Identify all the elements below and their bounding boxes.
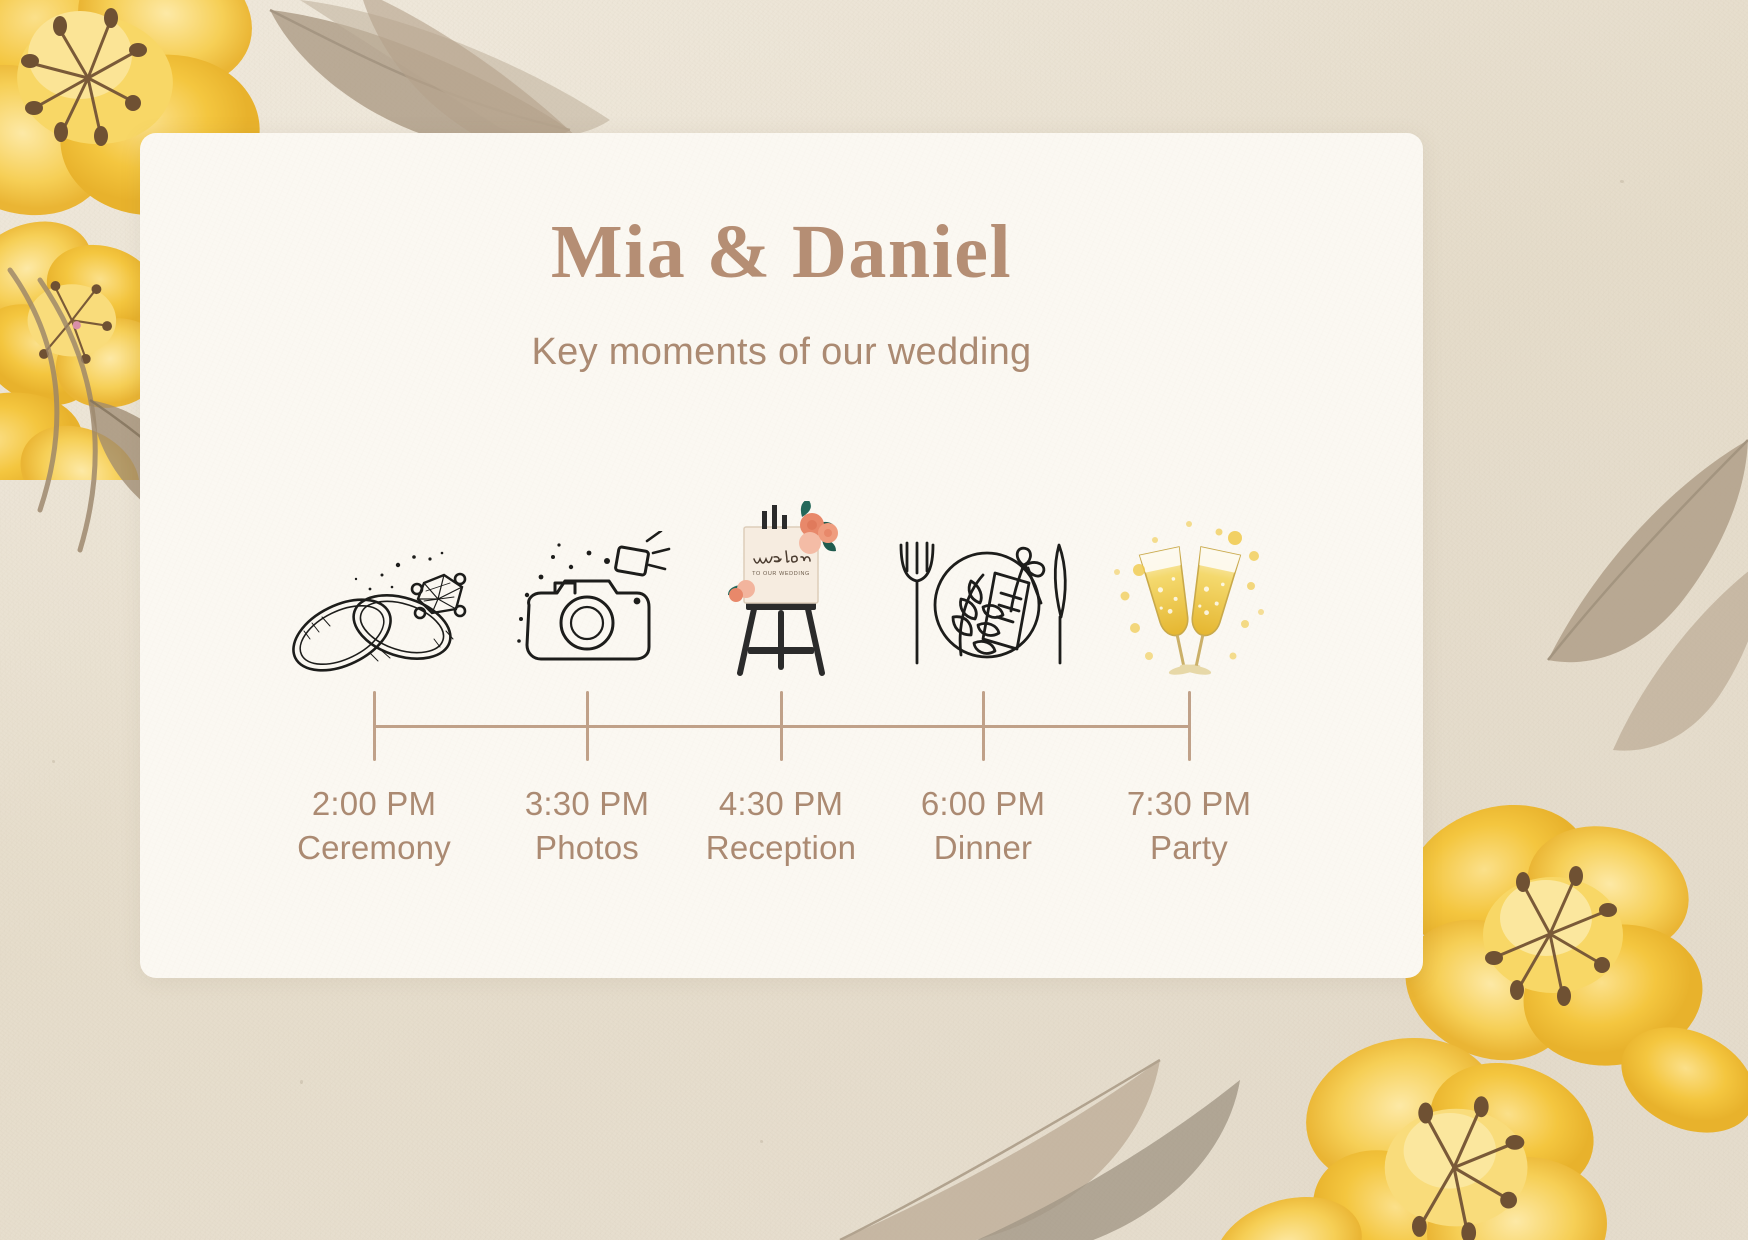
paper-speck (760, 1140, 763, 1143)
timeline-node-ceremony[interactable]: 2:00 PM Ceremony (269, 463, 479, 685)
timeline-tick (780, 691, 783, 761)
event-time: 2:00 PM (269, 785, 479, 823)
event-name: Ceremony (269, 829, 479, 867)
camera-icon (497, 531, 677, 681)
page-title: Mia & Daniel (140, 214, 1423, 290)
page-subtitle: Key moments of our wedding (140, 331, 1423, 374)
icon-slot (482, 463, 692, 685)
wedding-rings-icon (274, 531, 474, 681)
paper-speck (1620, 180, 1624, 183)
timeline-tick (586, 691, 589, 761)
place-setting-icon (883, 531, 1083, 681)
event-time: 3:30 PM (482, 785, 692, 823)
welcome-sign-easel-icon: TO OUR WEDDING (706, 501, 856, 681)
event-time: 6:00 PM (878, 785, 1088, 823)
timeline-tick (373, 691, 376, 761)
timeline-tick (1188, 691, 1191, 761)
event-name: Dinner (878, 829, 1088, 867)
timeline-tick (982, 691, 985, 761)
champagne-glasses-icon (1109, 516, 1269, 681)
timeline-node-reception[interactable]: TO OUR WEDDING (676, 463, 886, 685)
icon-slot: TO OUR WEDDING (676, 463, 886, 685)
paper-speck (52, 760, 55, 763)
timeline-node-dinner[interactable]: 6:00 PM Dinner (878, 463, 1088, 685)
timeline: 2:00 PM Ceremony (140, 463, 1423, 883)
icon-slot (878, 463, 1088, 685)
svg-text:TO OUR WEDDING: TO OUR WEDDING (752, 571, 810, 577)
timeline-node-photos[interactable]: 3:30 PM Photos (482, 463, 692, 685)
event-name: Party (1084, 829, 1294, 867)
timeline-node-party[interactable]: 7:30 PM Party (1084, 463, 1294, 685)
icon-slot (269, 463, 479, 685)
paper-speck (300, 1080, 303, 1084)
event-name: Photos (482, 829, 692, 867)
event-time: 7:30 PM (1084, 785, 1294, 823)
event-time: 4:30 PM (676, 785, 886, 823)
icon-slot (1084, 463, 1294, 685)
event-name: Reception (676, 829, 886, 867)
wedding-timeline-card: Mia & Daniel Key moments of our wedding (140, 133, 1423, 978)
